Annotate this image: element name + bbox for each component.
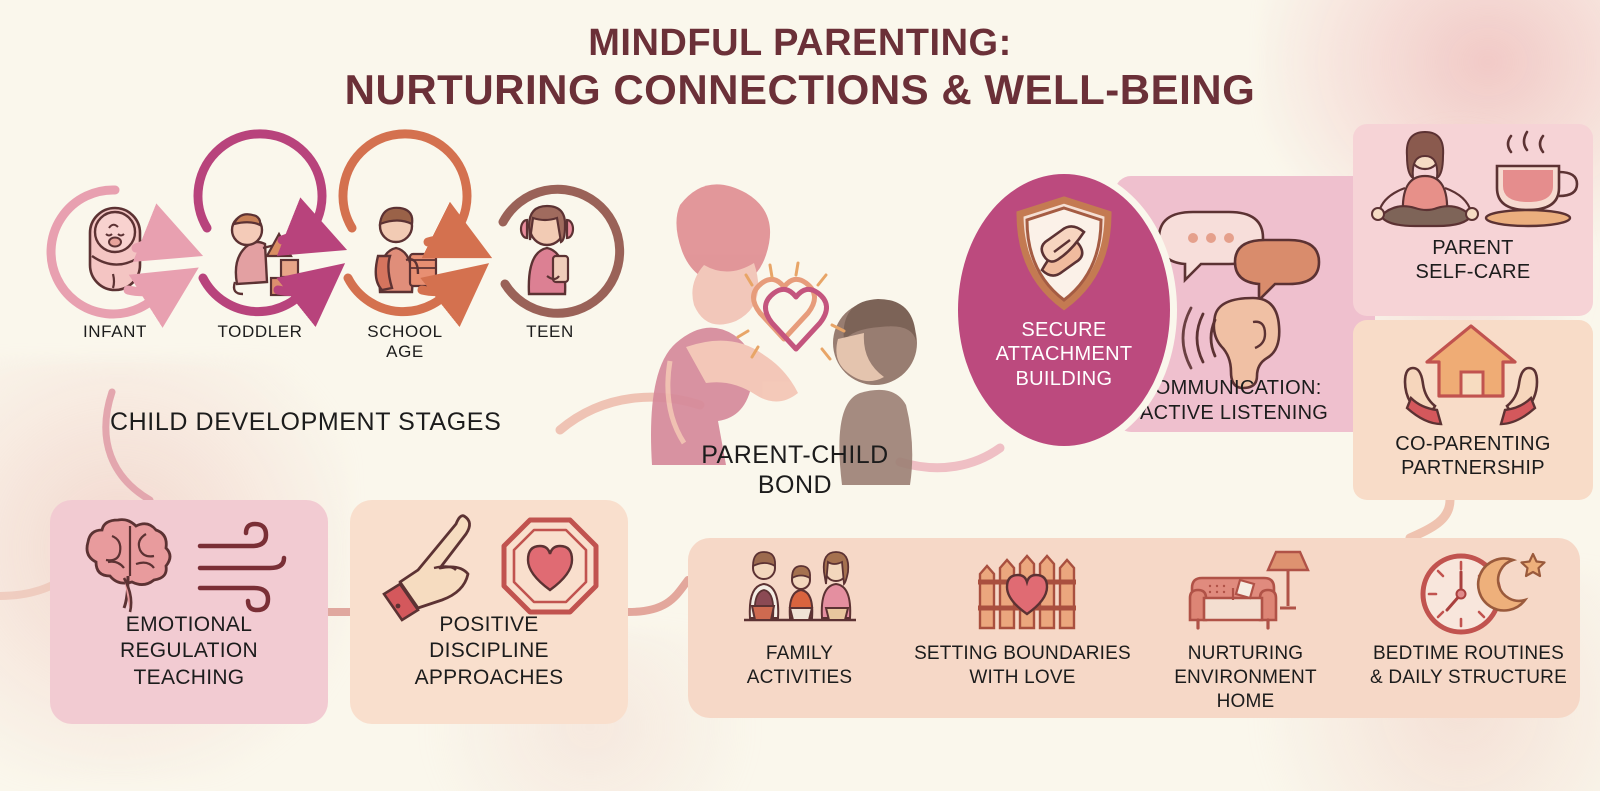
bedtime-label-line1: BEDTIME ROUTINES [1373,643,1564,664]
parent-self-care-art [1353,124,1593,236]
co-parenting-label-line1: CO-PARENTING [1395,433,1550,455]
strip-item-bedtime-routines[interactable]: BEDTIME ROUTINES & DAILY STRUCTURE [1357,538,1580,690]
child-development-stages: INFANT [40,182,660,432]
strip-item-family-activities[interactable]: FAMILY ACTIVITIES [688,538,911,690]
family-activities-label: FAMILY ACTIVITIES [688,642,911,690]
stages-section-heading: CHILD DEVELOPMENT STAGES [110,408,570,437]
secure-label-line3: BUILDING [1016,368,1113,390]
nurturing-label-line2: ENVIRONMENT [1174,667,1317,688]
self-care-label-line1: PARENT [1432,237,1513,259]
secure-attachment-label: SECURE ATTACHMENT BUILDING [996,318,1133,391]
parent-self-care-label: PARENT SELF-CARE [1353,236,1593,285]
bedtime-routines-art [1357,550,1580,636]
listening-ear-icon [1183,298,1279,388]
nurturing-label-line1: NURTURING [1188,643,1303,664]
shield-handshake-icon [1012,196,1116,310]
positive-discipline-card[interactable]: POSITIVE DISCIPLINE APPROACHES [350,500,628,724]
co-parenting-partnership-card[interactable]: CO-PARENTING PARTNERSHIP [1353,320,1593,500]
bond-label-line1: PARENT-CHILD [701,441,889,469]
emotional-regulation-label: EMOTIONAL REGULATION TEACHING [50,612,328,691]
nurturing-environment-label: NURTURING ENVIRONMENT HOME [1134,642,1357,713]
sofa-lamp-icon [1190,552,1308,628]
emo-label-line3: TEACHING [134,666,245,689]
secure-attachment-node[interactable]: SECURE ATTACHMENT BUILDING [958,174,1170,446]
nurturing-label-line3: HOME [1217,691,1275,712]
communication-card-label: COMMUNICATION: ACTIVE LISTENING [1140,376,1380,426]
wind-icon [200,524,284,610]
hands-holding-house-icon [1405,326,1537,424]
stop-hand-icon [384,516,470,620]
communication-label-line1: COMMUNICATION: [1140,377,1322,399]
setting-boundaries-art [911,550,1134,636]
bedtime-label-line2: & DAILY STRUCTURE [1370,667,1567,688]
strip-item-nurturing-environment[interactable]: NURTURING ENVIRONMENT HOME [1134,538,1357,713]
family-label-line1: FAMILY [766,643,833,664]
pos-label-line3: APPROACHES [415,666,564,689]
co-parenting-art [1353,320,1593,432]
stage-arrows [40,182,660,332]
parent-self-care-card[interactable]: PARENT SELF-CARE [1353,124,1593,316]
communication-label-line2: ACTIVE LISTENING [1140,402,1328,424]
bond-label-line2: BOND [758,471,832,499]
emo-label-line2: REGULATION [120,639,258,662]
infographic-canvas: MINDFUL PARENTING: NURTURING CONNECTIONS… [0,0,1600,791]
boundaries-label-line2: WITH LOVE [969,667,1075,688]
heart-octagon-icon [504,520,596,612]
family-cooking-icon [744,552,856,620]
secure-label-line2: ATTACHMENT [996,343,1133,365]
co-parenting-label: CO-PARENTING PARTNERSHIP [1353,432,1593,481]
positive-discipline-art [350,500,628,612]
stage-school-age-label-line2: AGE [386,342,424,361]
meditating-person-icon [1372,132,1478,226]
strip-item-setting-boundaries[interactable]: SETTING BOUNDARIES WITH LOVE [911,538,1134,690]
bedtime-routines-label: BEDTIME ROUTINES & DAILY STRUCTURE [1357,642,1580,690]
emotional-regulation-card[interactable]: EMOTIONAL REGULATION TEACHING [50,500,328,724]
speech-bubbles-icon [1159,212,1319,300]
fence-heart-icon [978,556,1076,628]
parent-child-bond-label: PARENT-CHILD BOND [650,440,940,500]
self-care-label-line2: SELF-CARE [1416,261,1531,283]
positive-discipline-label: POSITIVE DISCIPLINE APPROACHES [350,612,628,691]
pos-label-line2: DISCIPLINE [429,639,549,662]
family-label-line2: ACTIVITIES [747,667,852,688]
brain-icon [87,520,170,612]
parent-child-bond-illustration [630,165,940,485]
setting-boundaries-label: SETTING BOUNDARIES WITH LOVE [911,642,1134,690]
family-activities-art [688,550,911,636]
bottom-strip: FAMILY ACTIVITIES [688,538,1580,718]
co-parenting-label-line2: PARTNERSHIP [1401,457,1545,479]
nurturing-environment-art [1134,550,1357,636]
tea-cup-icon [1486,132,1577,226]
secure-label-line1: SECURE [1021,319,1106,341]
boundaries-label-line1: SETTING BOUNDARIES [914,643,1131,664]
clock-moon-icon [1423,554,1545,632]
emotional-regulation-art [50,500,328,612]
